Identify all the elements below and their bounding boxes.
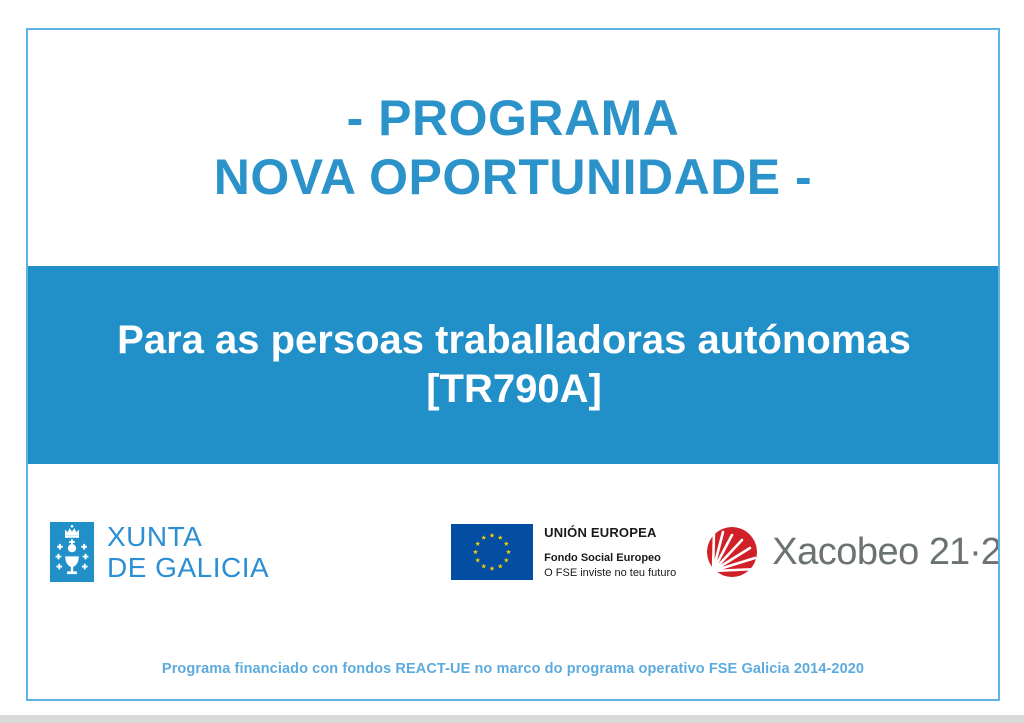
highlight-banner: Para as persoas traballadoras autónomas …: [26, 266, 1000, 464]
page-title-line-2: NOVA OPORTUNIDADE -: [214, 148, 812, 207]
european-union-flag-icon: [451, 524, 533, 580]
xacobeo-logo: Xacobeo 21·22: [704, 525, 1000, 579]
galicia-coat-of-arms-icon: [50, 522, 94, 582]
scallop-shell-icon: [704, 525, 760, 579]
eu-tagline: O FSE inviste no teu futuro: [544, 567, 676, 579]
eu-subtitle: Fondo Social Europeo: [544, 552, 676, 564]
title-block: - PROGRAMA NOVA OPORTUNIDADE -: [28, 30, 998, 266]
xunta-de-galicia-logo: XUNTA DE GALICIA: [50, 521, 269, 584]
european-union-logo: UNIÓN EUROPEA Fondo Social Europeo O FSE…: [451, 524, 676, 580]
banner-line-1: Para as persoas traballadoras autónomas: [117, 316, 911, 365]
bottom-strip: [0, 715, 1024, 723]
poster-card: - PROGRAMA NOVA OPORTUNIDADE - Para as p…: [26, 28, 1000, 701]
logo-row: XUNTA DE GALICIA UNIÓN EUROPEA Fondo Soc…: [28, 464, 998, 640]
xacobeo-word-text: Xacobeo: [772, 531, 919, 573]
xacobeo-wordmark: Xacobeo 21·22: [772, 531, 1000, 574]
xunta-wordmark-line-2: DE GALICIA: [107, 552, 269, 583]
european-union-text: UNIÓN EUROPEA Fondo Social Europeo O FSE…: [544, 525, 676, 579]
page-title-line-1: - PROGRAMA: [347, 89, 680, 148]
funding-note: Programa financiado con fondos REACT-UE …: [162, 661, 864, 677]
xunta-wordmark: XUNTA DE GALICIA: [107, 521, 269, 584]
xunta-wordmark-line-1: XUNTA: [107, 521, 269, 552]
footer: Programa financiado con fondos REACT-UE …: [28, 660, 998, 678]
xacobeo-years: 21·22: [929, 531, 1000, 573]
banner-line-2: [TR790A]: [426, 365, 602, 414]
eu-title: UNIÓN EUROPEA: [544, 525, 676, 540]
